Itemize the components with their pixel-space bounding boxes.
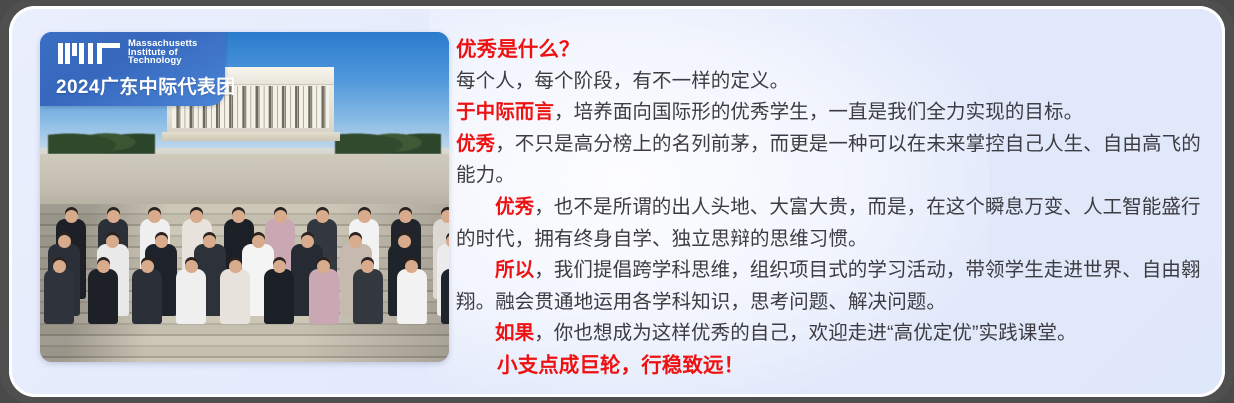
mit-logo-bar-2 [72, 43, 77, 56]
highlight-run: 如果 [495, 322, 534, 344]
article-paragraph: 每个人，每个阶段，有不一样的定义。 [456, 66, 1204, 98]
mit-wordmark-line-3: Technology [128, 57, 197, 66]
tree-line-left [48, 124, 154, 154]
highlight-run: 优秀 [456, 133, 495, 155]
student-figure [44, 269, 74, 324]
student-group [40, 177, 449, 316]
article-text: 优秀是什么？ 每个人，每个阶段，有不一样的定义。于中际而言，培养面向国际形的优秀… [456, 34, 1204, 382]
student-figure [309, 269, 339, 324]
mit-logo-icon [58, 43, 120, 64]
student-figure [353, 269, 383, 324]
student-figure [441, 269, 449, 324]
student-figure [220, 269, 250, 324]
student-figure [132, 269, 162, 324]
article-paragraph: 优秀，不只是高分榜上的名列前茅，而更是一种可以在未来掌控自己人生、自由高飞的能力… [456, 129, 1204, 192]
memorial-base [162, 132, 340, 141]
article-paragraph: 优秀，也不是所谓的出人头地、大富大贵，而是，在这个瞬息万变、人工智能盛行的时代，… [456, 192, 1204, 255]
article-heading: 优秀是什么？ [456, 34, 1204, 66]
article-closing: 小支点成巨轮，行稳致远！ [456, 350, 1204, 382]
body-run: ，你也想成为这样优秀的自己，欢迎走进“高优定优”实践课堂。 [534, 322, 1076, 344]
mit-logo-bar-1 [65, 43, 70, 64]
student-figure [88, 269, 118, 324]
article-paragraph: 于中际而言，培养面向国际形的优秀学生，一直是我们全力实现的目标。 [456, 97, 1204, 129]
body-run: ，我们提倡跨学科思维，组织项目式的学习活动，带领学生走进世界、自由翱翔。融会贯通… [456, 259, 1201, 313]
body-run: 每个人，每个阶段，有不一样的定义。 [456, 70, 789, 92]
student-figure [264, 269, 294, 324]
body-run: ，不只是高分榜上的名列前茅，而更是一种可以在未来掌控自己人生、自由高飞的能力。 [456, 133, 1201, 187]
mit-logo-bar-0 [58, 43, 63, 64]
body-run: ，也不是所谓的出人头地、大富大贵，而是，在这个瞬息万变、人工智能盛行的时代，拥有… [456, 196, 1201, 250]
mit-delegation-badge: Massachusetts Institute of Technology 20… [40, 32, 225, 106]
highlight-run: 所以 [495, 259, 534, 281]
student-figure [176, 269, 206, 324]
body-run: ，培养面向国际形的优秀学生，一直是我们全力实现的目标。 [554, 101, 1083, 123]
highlight-run: 优秀 [495, 196, 534, 218]
content-card: Massachusetts Institute of Technology 20… [9, 6, 1225, 397]
article-paragraphs: 每个人，每个阶段，有不一样的定义。于中际而言，培养面向国际形的优秀学生，一直是我… [456, 66, 1204, 350]
article-paragraph: 所以，我们提倡跨学科思维，组织项目式的学习活动，带领学生走进世界、自由翱翔。融会… [456, 255, 1204, 318]
student-figure [397, 269, 427, 324]
article-paragraph: 如果，你也想成为这样优秀的自己，欢迎走进“高优定优”实践课堂。 [456, 318, 1204, 350]
mit-logo-bar-4 [88, 43, 93, 64]
group-photo: Massachusetts Institute of Technology 20… [40, 32, 449, 362]
outer-frame: Massachusetts Institute of Technology 20… [0, 0, 1234, 403]
mit-logo-bar-6 [97, 43, 120, 48]
tree-line-right [335, 124, 441, 154]
badge-caption: 2024广东中际代表团 [56, 72, 236, 99]
mit-logo-bar-3 [79, 43, 84, 64]
mit-wordmark: Massachusetts Institute of Technology [128, 40, 197, 66]
highlight-run: 于中际而言 [456, 101, 554, 123]
